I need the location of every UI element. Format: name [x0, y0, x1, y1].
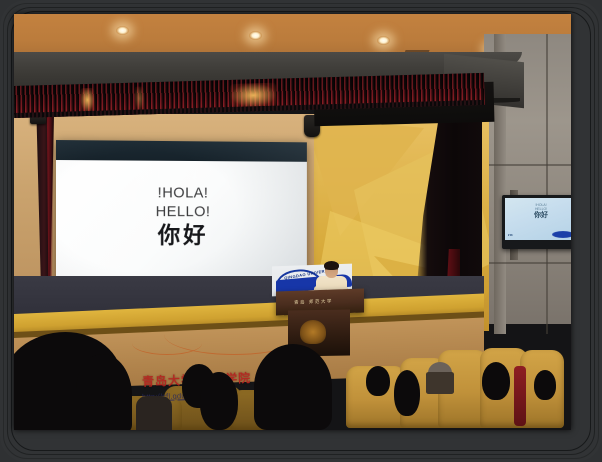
downlight-icon — [116, 26, 129, 35]
downlight-icon — [249, 31, 262, 40]
monitor-text-block: !HOLA! HELLO! 你好 — [505, 203, 571, 220]
wall-seam — [484, 262, 571, 264]
audience-head — [200, 372, 238, 430]
audience-head — [254, 344, 332, 430]
monitor-brand-logo — [552, 231, 571, 238]
presenter-hair — [324, 261, 339, 270]
photograph: !HOLA! HELLO! 你好 FIU FLORIDA INTERNATION… — [14, 14, 571, 430]
slide-line-hello: HELLO! — [56, 202, 307, 221]
screenshot-frame: !HOLA! HELLO! 你好 FIU FLORIDA INTERNATION… — [0, 0, 602, 462]
slide-text-block: !HOLA! HELLO! 你好 — [56, 184, 307, 251]
audience-head — [136, 396, 172, 430]
slide-line-chinese: 你好 — [56, 221, 307, 251]
valance-glow — [230, 83, 277, 108]
floor-cable — [132, 332, 202, 355]
monitor-screen: !HOLA! HELLO! 你好 FIU — [505, 198, 571, 240]
slide-line-hola: !HOLA! — [56, 184, 307, 203]
audience-head — [366, 366, 390, 396]
wall-monitor: !HOLA! HELLO! 你好 FIU — [502, 195, 571, 249]
monitor-fiu-logo: FIU — [508, 233, 513, 237]
audience-head — [426, 372, 454, 394]
valance-glow — [134, 86, 145, 110]
audience-head — [482, 362, 510, 400]
valance-glow — [80, 88, 95, 112]
audience-head — [534, 370, 556, 400]
audience-head — [394, 370, 420, 416]
downlight-icon — [377, 36, 390, 45]
wall-seam — [546, 34, 548, 334]
auditorium-seat-red — [514, 366, 526, 426]
wall-seam — [484, 164, 571, 166]
podium-front-text: 青岛 师范大学 — [294, 299, 333, 306]
podium-emblem — [300, 320, 326, 344]
monitor-line-chinese: 你好 — [505, 211, 571, 220]
